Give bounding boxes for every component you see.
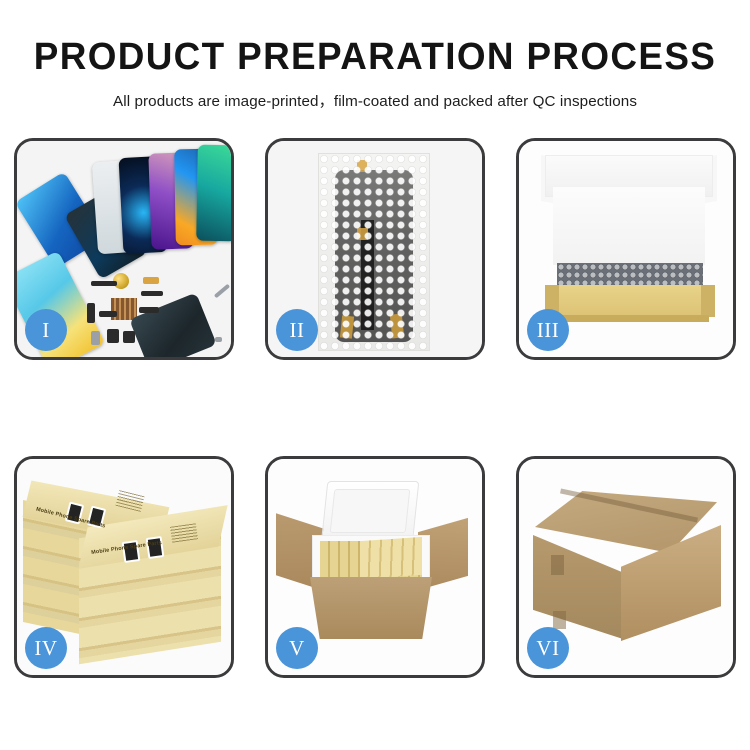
spare-part: [143, 277, 159, 284]
process-step-card-5[interactable]: V: [265, 456, 485, 678]
carton-tape-mark: [553, 611, 566, 629]
step-badge-4: IV: [25, 627, 67, 669]
step-badge-2: II: [276, 309, 318, 351]
spare-part: [141, 291, 163, 296]
spare-part: [99, 311, 117, 317]
tweezers-tool: [214, 284, 230, 299]
process-step-card-3[interactable]: III: [516, 138, 736, 360]
spare-part: [91, 331, 100, 345]
process-steps-grid: I II III: [14, 138, 736, 678]
box-side-right: [701, 285, 715, 317]
carton-tape-mark: [551, 555, 564, 575]
packed-kraft-boxes-row2: [360, 537, 422, 579]
bubble-wrap-bag: [318, 153, 430, 351]
process-step-card-6[interactable]: VI: [516, 456, 736, 678]
process-step-card-2[interactable]: II: [265, 138, 485, 360]
step-badge-3: III: [527, 309, 569, 351]
carton-left-face: [533, 535, 623, 639]
foam-lid-inner: [330, 489, 411, 533]
page-title: PRODUCT PREPARATION PROCESS: [11, 38, 739, 78]
phone-display-teal: [196, 145, 231, 242]
page-subtitle: All products are image-printed，film-coat…: [0, 89, 750, 111]
phone-back-housing-part: [129, 293, 217, 357]
spare-part: [91, 281, 117, 286]
process-step-card-1[interactable]: I: [14, 138, 234, 360]
bubble-texture: [319, 154, 429, 350]
process-step-card-4[interactable]: Mobile Phone Spare Parts Mobile Phone Sp…: [14, 456, 234, 678]
step-badge-1: I: [25, 309, 67, 351]
page-header: PRODUCT PREPARATION PROCESS All products…: [0, 0, 750, 111]
step-badge-6: VI: [527, 627, 569, 669]
box-front-panel: [545, 285, 715, 317]
spare-part: [123, 331, 135, 343]
step-badge-5: V: [276, 627, 318, 669]
carton-front-panel: [310, 577, 432, 639]
spare-part: [107, 329, 119, 343]
spare-part: [87, 303, 95, 323]
box-base: [551, 315, 709, 322]
spare-part: [139, 307, 159, 313]
box-inner-liner: [553, 187, 705, 265]
screw-part: [215, 337, 222, 342]
bubble-wrapped-contents: [557, 263, 703, 287]
